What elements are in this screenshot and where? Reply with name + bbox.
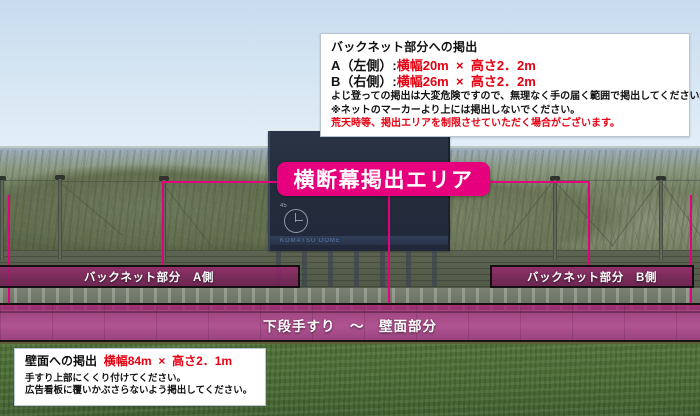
wall-info-width: 横幅84m bbox=[104, 354, 152, 368]
backstop-dimension-b-width: 横幅26m bbox=[397, 74, 449, 89]
wall-info-heading-label: 壁面への掲出 bbox=[25, 354, 97, 368]
leader-line-b-horizontal bbox=[486, 181, 590, 183]
net-support-wire-2 bbox=[60, 181, 164, 182]
clock-icon bbox=[284, 209, 308, 233]
net-label-side-b-text: バックネット部分 B側 bbox=[527, 269, 657, 285]
net-pole-4 bbox=[553, 180, 557, 260]
backstop-note-2: ※ネットのマーカーより上には掲出しないでください。 bbox=[331, 105, 689, 117]
backstop-warning: 荒天時等、掲出エリアを制限させていただく場合がございます。 bbox=[331, 118, 689, 130]
backstop-net-left bbox=[0, 178, 268, 256]
wall-info-times: × bbox=[158, 354, 165, 368]
banner-area-label: 横断幕掲出エリア bbox=[294, 164, 474, 194]
net-label-side-a: バックネット部分 A側 bbox=[0, 265, 300, 288]
leader-line-a-vertical bbox=[162, 182, 164, 268]
leader-line-a-horizontal bbox=[162, 181, 280, 183]
backstop-dimension-a-times: × bbox=[456, 58, 464, 73]
net-pole-5 bbox=[659, 180, 663, 260]
wall-info-box: 壁面への掲出 横幅84m × 高さ2．1m 手すり上部にくくり付けてください。 … bbox=[14, 348, 266, 406]
scoreboard-supports bbox=[276, 251, 438, 287]
backstop-dimension-b: B（右側）:横幅26m × 高さ2．2m bbox=[331, 74, 689, 90]
wall-note-2: 広告看板に覆いかぶさらないよう掲出してください。 bbox=[25, 385, 265, 397]
wall-note-1: 手すり上部にくくり付けてください。 bbox=[25, 373, 265, 385]
area-boundary-line-center bbox=[388, 196, 390, 303]
leader-line-b-vertical bbox=[588, 182, 590, 268]
backstop-info-heading: バックネット部分への掲出 bbox=[331, 40, 689, 55]
wall-area-label: 下段手すり 〜 壁面部分 bbox=[0, 315, 700, 335]
net-label-side-a-text: バックネット部分 A側 bbox=[84, 269, 214, 285]
wall-info-height: 高さ2．1m bbox=[172, 354, 232, 368]
net-support-wire-1 bbox=[0, 180, 60, 181]
wall-info-heading: 壁面への掲出 横幅84m × 高さ2．1m bbox=[25, 354, 265, 369]
backstop-dimension-b-height: 高さ2．2m bbox=[471, 74, 536, 89]
scoreboard-caption: KOMATSU DOME bbox=[280, 238, 341, 244]
backstop-dimension-a-width: 横幅20m bbox=[397, 58, 449, 73]
backstop-dimension-b-times: × bbox=[456, 74, 464, 89]
backstop-dimension-b-label: B（右側）: bbox=[331, 74, 397, 89]
net-pole-3 bbox=[0, 180, 4, 260]
net-label-side-b: バックネット部分 B側 bbox=[490, 265, 694, 288]
scoreboard-clock-number: 45 bbox=[280, 203, 287, 209]
backstop-dimension-a-height: 高さ2．2m bbox=[471, 58, 536, 73]
backstop-dimension-a-label: A（左側）: bbox=[331, 58, 397, 73]
backstop-note-1: よじ登っての掲出は大変危険ですので、無理なく手の届く範囲で掲出してください。 bbox=[331, 91, 689, 103]
net-support-wire-5 bbox=[662, 180, 700, 181]
banner-area-pill: 横断幕掲出エリア bbox=[277, 162, 490, 196]
backstop-dimension-a: A（左側）:横幅20m × 高さ2．2m bbox=[331, 58, 689, 74]
stadium-annotated-photo: 45 KOMATSU DOME 横断幕掲出エリア バックネット部分 A側 バック… bbox=[0, 0, 700, 416]
backstop-info-box: バックネット部分への掲出 A（左側）:横幅20m × 高さ2．2m B（右側）:… bbox=[320, 33, 690, 137]
net-pole-1 bbox=[58, 179, 62, 259]
